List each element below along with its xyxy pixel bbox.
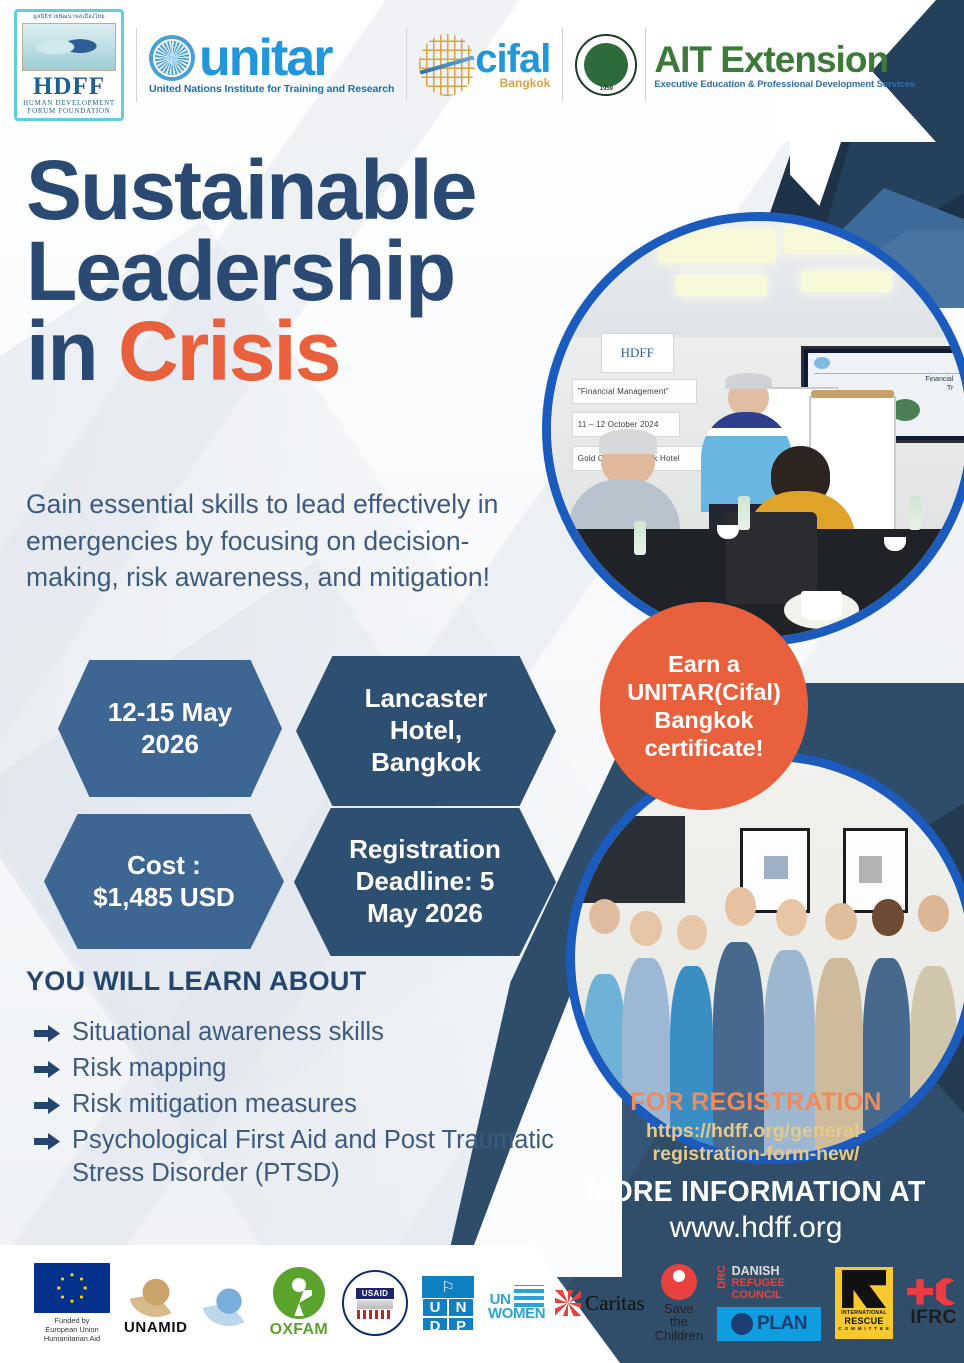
undp-letter-u: U [422,1298,448,1317]
hexagon-deadline-line-2: Deadline: 5 [349,866,501,898]
registration-url-line-2: registration-form-new/ [556,1143,956,1166]
undp-mark-icon: ⚐ U N D P [422,1276,474,1330]
stc-line-2: Children [655,1329,703,1343]
usaid-stripes-icon [357,1310,393,1319]
cifal-city: Bangkok [500,76,551,90]
title-line-2: Leadership [26,231,646,312]
arrow-right-icon [34,1097,60,1119]
hexagon-dates: 12-15 May 2026 [58,660,282,797]
usaid-label: USAID [356,1288,394,1299]
ait-wordmark: AIT Extension [654,41,915,78]
photo1-slide-logo [814,357,830,369]
donor-logo-strip: Funded by European Union Humanitarian Ai… [0,1249,964,1357]
registration-url-line-1: https://hdff.org/general- [556,1120,956,1143]
save-the-children-logo: Save the Children [655,1264,703,1343]
more-information-heading: MORE INFORMATION AT [556,1176,956,1209]
hexagon-venue: Lancaster Hotel, Bangkok [296,656,556,806]
photo2-frame-2-art [859,856,883,884]
learn-item-3: Risk mitigation measures [72,1088,357,1120]
photo1-bottle-2 [738,496,750,530]
partner-logo-header: มูลนิธิช่วยพัฒนาพลเมืองไทย HDFF HUMAN DE… [0,0,964,130]
more-information-url[interactable]: www.hdff.org [556,1211,956,1244]
title-line-3-prefix: in [26,304,118,398]
photo1-slide-line2: Tr [925,384,953,393]
photo1-light-2 [784,225,892,254]
undp-letter-p: P [448,1317,474,1336]
photo1-coffee-cup [801,591,843,620]
usaid-logo: USAID [342,1270,408,1336]
learn-item-4: Psychological First Aid and Post Traumat… [72,1124,564,1188]
red-crescent-icon [934,1278,960,1306]
photo1-flipchart-bar [811,390,894,398]
globe-icon [419,34,475,96]
hexagon-dates-line-2: 2026 [108,729,232,761]
badge-line-4: certificate! [627,734,781,762]
eu-flag-icon [34,1263,110,1313]
hexagon-dates-line-1: 12-15 May [108,697,232,729]
header-divider-4 [645,28,646,102]
oxfam-label: OXFAM [270,1321,328,1339]
undp-letter-n: N [448,1298,474,1317]
photo2-person-2-head [630,911,662,946]
arrow-right-icon [34,1025,60,1047]
photo2-person-3-head [677,915,707,950]
arrow-right-icon [34,1061,60,1083]
unitar-wordmark: unitar [199,35,331,82]
hdff-acronym: HDFF [33,74,105,99]
unamid-label: UNAMID [124,1319,188,1336]
poster-root: มูลนิธิช่วยพัฒนาพลเมืองไทย HDFF HUMAN DE… [0,0,964,1363]
un-women-logo: UN WOMEN [488,1285,545,1321]
learn-heading: YOU WILL LEARN ABOUT [26,966,366,997]
drc-line-3: COUNCIL [732,1290,785,1302]
irc-mark-icon: INTERNATIONAL RESCUE C O M M I T T E E [835,1267,893,1339]
detail-hexagons: 12-15 May 2026 Lancaster Hotel, Bangkok … [0,656,600,956]
photo1-slide-line1: Financial [925,375,953,384]
undp-emblem-icon: ⚐ [422,1276,474,1298]
hdff-logo: มูลนิธิช่วยพัฒนาพลเมืองไทย HDFF HUMAN DE… [14,9,124,121]
hdff-thai-text: มูลนิธิช่วยพัฒนาพลเมืองไทย [33,15,105,21]
list-item: Situational awareness skills [34,1016,564,1048]
eu-caption-line-3: Humanitarian Aid [44,1334,100,1343]
drc-side-label: DRC [717,1265,729,1289]
eu-caption-line-1: Funded by [44,1316,100,1325]
un-women-line-2: WOMEN [488,1307,545,1321]
learn-list: Situational awareness skills Risk mappin… [34,1016,564,1193]
rope-knot-icon [22,23,116,71]
photo1-presenter-hair [725,373,772,390]
hexagon-venue-line-1: Lancaster [365,683,488,715]
red-cross-icon [907,1279,933,1305]
badge-line-2: UNITAR(Cifal) [627,678,781,706]
hexagon-cost-line-1: Cost : [93,850,235,882]
caritas-label: Caritas [585,1291,644,1316]
hdff-fullname-line1: HUMAN DEVELOPMENT [23,99,115,107]
plan-international-logo: PLAN [717,1307,821,1341]
hexagon-deadline-line-1: Registration [349,834,501,866]
un-emblem-icon [202,1280,256,1326]
header-divider-3 [562,28,563,102]
eu-caption-line-2: European Union [44,1325,100,1334]
unamid-emblem-icon [129,1271,183,1317]
eu-logo: Funded by European Union Humanitarian Ai… [34,1263,110,1344]
hexagon-cost-line-2: $1,485 USD [93,882,235,914]
usaid-handshake-icon [357,1300,393,1309]
stc-line-1: Save the [655,1302,703,1329]
unitar-logo: unitar United Nations Institute for Trai… [149,35,394,96]
irc-glyph-icon [842,1270,886,1308]
un-emblem-icon [149,35,195,81]
usaid-seal-icon: USAID [342,1270,408,1336]
hexagon-venue-line-2: Hotel, [365,715,488,747]
badge-line-3: Bangkok [627,706,781,734]
hdff-fullname-line2: FORUM FOUNDATION [28,107,111,115]
oxfam-logo: OXFAM [270,1267,328,1339]
photo2-person-6-head [825,903,857,940]
cifal-logo: cifal Bangkok [475,40,550,90]
plan-label: PLAN [757,1313,807,1335]
drc-line-2: REFUGEE [732,1278,785,1290]
arrow-right-icon [34,1133,60,1155]
registration-block: FOR REGISTRATION https://hdff.org/genera… [556,1088,956,1244]
photo1-light-1 [659,229,775,262]
undp-logo: ⚐ U N D P [422,1276,474,1330]
drc-logo: DRC DANISH REFUGEE COUNCIL PLAN [717,1265,821,1341]
oxfam-mark-icon [273,1267,325,1319]
learn-item-2: Risk mapping [72,1052,226,1084]
photo1-light-3 [676,275,768,296]
title-line-3-accent: Crisis [118,304,339,398]
hexagon-deadline-line-3: May 2026 [349,898,501,930]
ait-tagline: Executive Education & Professional Devel… [654,79,915,90]
cifal-wordmark: cifal [475,40,550,78]
unitar-tagline: United Nations Institute for Training an… [149,83,394,95]
irc-line-2: RESCUE [844,1316,883,1326]
registration-heading: FOR REGISTRATION [556,1088,956,1117]
plan-mark-icon [731,1313,753,1335]
certificate-badge: Earn a UNITAR(Cifal) Bangkok certificate… [600,602,808,810]
ifrc-logo: IFRC [907,1278,960,1329]
ifrc-label: IFRC [910,1307,956,1329]
unamid-logo: UNAMID [124,1271,188,1336]
ait-seal-icon: 1959 [575,34,637,96]
irc-line-3: C O M M I T T E E [838,1326,889,1331]
list-item: Risk mapping [34,1052,564,1084]
united-nations-logo [202,1280,256,1326]
header-divider-2 [406,28,407,102]
hexagon-venue-line-3: Bangkok [365,747,488,779]
badge-line-1: Earn a [627,650,781,678]
title-line-3: in Crisis [26,311,646,392]
hexagon-cost: Cost : $1,485 USD [44,814,284,949]
page-title: Sustainable Leadership in Crisis [26,150,646,392]
undp-letter-d: D [422,1317,448,1336]
caritas-logo: Caritas [555,1290,644,1316]
photo1-light-4 [801,271,893,292]
list-item: Psychological First Aid and Post Traumat… [34,1124,564,1188]
photo2-frame-1-art [764,856,788,880]
ait-seal-year: 1959 [577,86,635,92]
ait-extension-logo: AIT Extension Executive Education & Prof… [654,41,915,90]
photo1-seated-left-hair [599,429,657,454]
un-women-bars-icon [514,1285,544,1307]
photo2-person-7-head [872,899,904,936]
registration-url[interactable]: https://hdff.org/general- registration-f… [556,1120,956,1167]
photo1-bottle-3 [909,496,921,530]
subtitle: Gain essential skills to lead effectivel… [26,486,526,596]
ifrc-symbols-icon [907,1278,960,1306]
list-item: Risk mitigation measures [34,1088,564,1120]
title-line-1: Sustainable [26,150,646,231]
learn-item-1: Situational awareness skills [72,1016,384,1048]
hexagon-deadline: Registration Deadline: 5 May 2026 [294,808,556,956]
save-the-children-mark-icon [661,1264,697,1300]
photo1-bottle-1 [634,521,646,555]
irc-logo: INTERNATIONAL RESCUE C O M M I T T E E [835,1267,893,1339]
header-divider-1 [136,28,137,102]
caritas-sunburst-icon [555,1290,581,1316]
